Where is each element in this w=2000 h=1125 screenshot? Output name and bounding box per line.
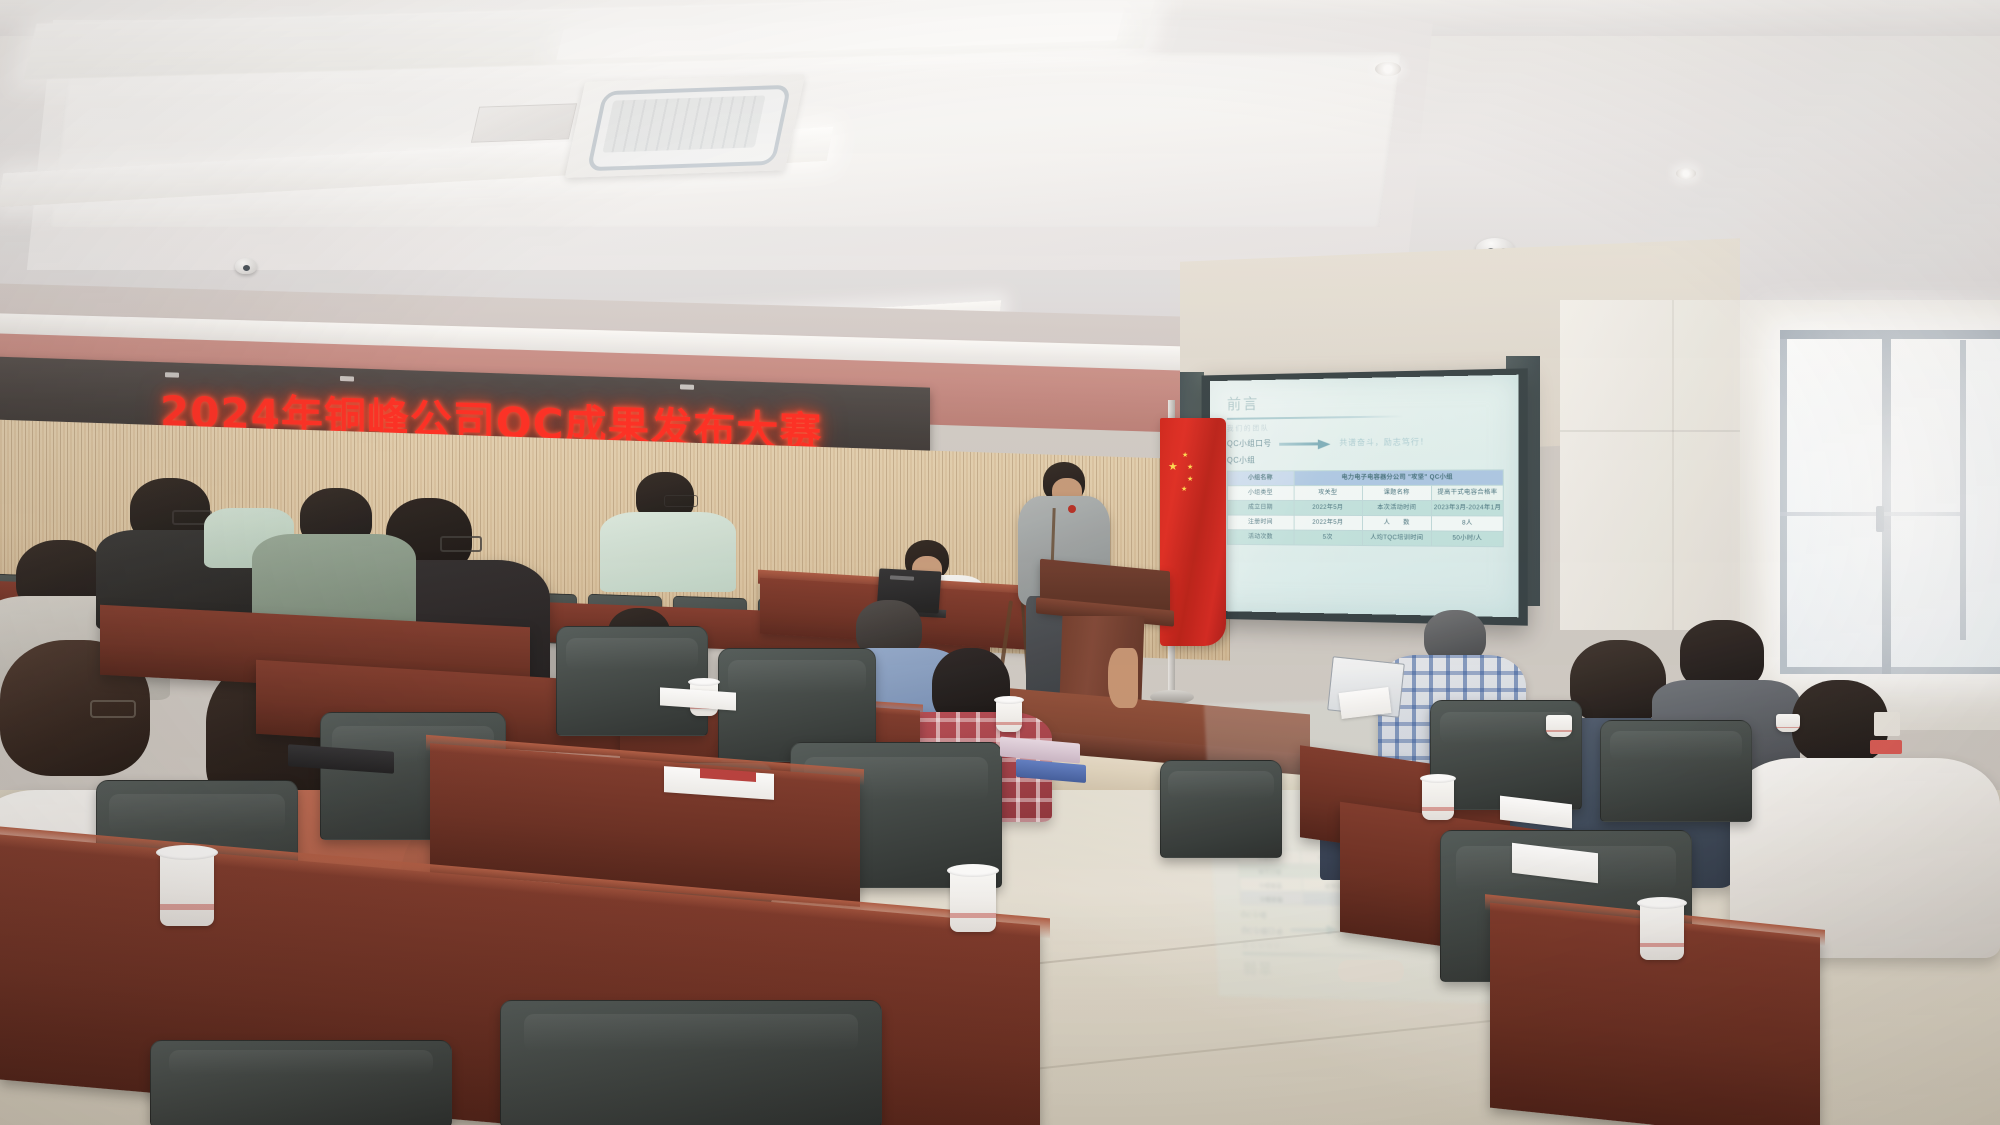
audience-chair[interactable]	[150, 1040, 452, 1125]
cup-rim	[1637, 897, 1687, 909]
glasses-icon	[90, 700, 136, 718]
glasses-icon	[440, 536, 482, 552]
wall-seam	[1672, 300, 1674, 630]
audience-shirt-mint	[600, 512, 736, 592]
ceiling-vent	[471, 103, 577, 142]
audience-chair[interactable]	[556, 626, 708, 736]
glasses-icon	[664, 495, 698, 507]
paper-cup	[950, 870, 996, 932]
cup-rim	[947, 864, 999, 877]
paper-cup	[160, 852, 214, 926]
downlight-icon	[1676, 168, 1696, 179]
camera-lens-icon	[243, 265, 250, 271]
presenter-badge	[1068, 505, 1076, 513]
cup-rim	[156, 845, 218, 860]
paper-cup	[1640, 902, 1684, 960]
audience-chair[interactable]	[1160, 760, 1282, 858]
audience-chair[interactable]	[1600, 720, 1752, 822]
cup-rim	[688, 678, 720, 686]
air-conditioner-grille	[602, 95, 765, 152]
paper-cup	[1422, 778, 1454, 820]
desk-item-red	[1870, 740, 1902, 754]
screen-glare	[1210, 375, 1518, 618]
paper-cup	[1546, 715, 1572, 737]
conference-room-photo: 2024年铜峰公司QC成果发布大赛 前言 我们的团队 QC小组口号 共谱奋斗，励…	[0, 0, 2000, 1125]
downlight-icon	[1375, 62, 1401, 76]
paper-cup	[1776, 714, 1800, 732]
projection-screen: 前言 我们的团队 QC小组口号 共谱奋斗，励志笃行！ QC小组 小组名称 电力电…	[1210, 375, 1518, 618]
cup-rim	[1420, 774, 1456, 783]
audience-chair[interactable]	[500, 1000, 882, 1125]
desk-item	[1874, 712, 1900, 736]
cup-rim	[994, 696, 1024, 704]
audience-face	[1108, 648, 1138, 708]
window-daylight-glow	[1740, 290, 2000, 740]
audience-shoe	[1338, 960, 1404, 982]
paper-cup	[996, 700, 1022, 732]
